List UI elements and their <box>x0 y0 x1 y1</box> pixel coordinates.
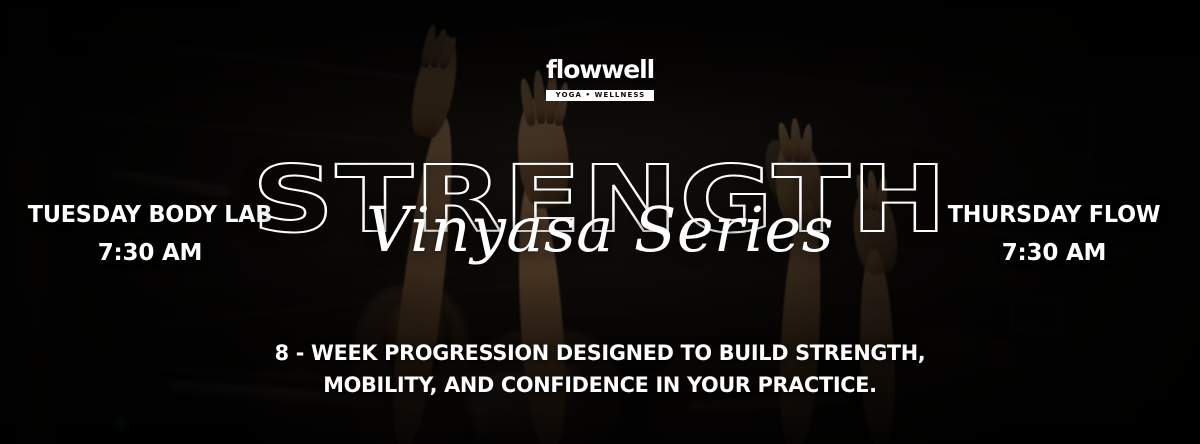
brand-logo-tagline: YOGA • WELLNESS <box>546 90 654 101</box>
headline: STRENGTH Vinyasa Series <box>0 158 1200 261</box>
description-line-2: MOBILITY, AND CONFIDENCE IN YOUR PRACTIC… <box>6 370 1194 402</box>
banner-content: flowwell YOGA • WELLNESS TUESDAY BODY LA… <box>0 0 1200 444</box>
brand-logo-wordmark: flowwell <box>546 57 654 82</box>
brand-logo: flowwell YOGA • WELLNESS <box>546 57 654 101</box>
description: 8 - WEEK PROGRESSION DESIGNED TO BUILD S… <box>0 338 1200 401</box>
headline-script-word: Vinyasa Series <box>0 199 1200 261</box>
description-line-1: 8 - WEEK PROGRESSION DESIGNED TO BUILD S… <box>6 338 1194 370</box>
promo-banner: flowwell YOGA • WELLNESS TUESDAY BODY LA… <box>0 0 1200 444</box>
